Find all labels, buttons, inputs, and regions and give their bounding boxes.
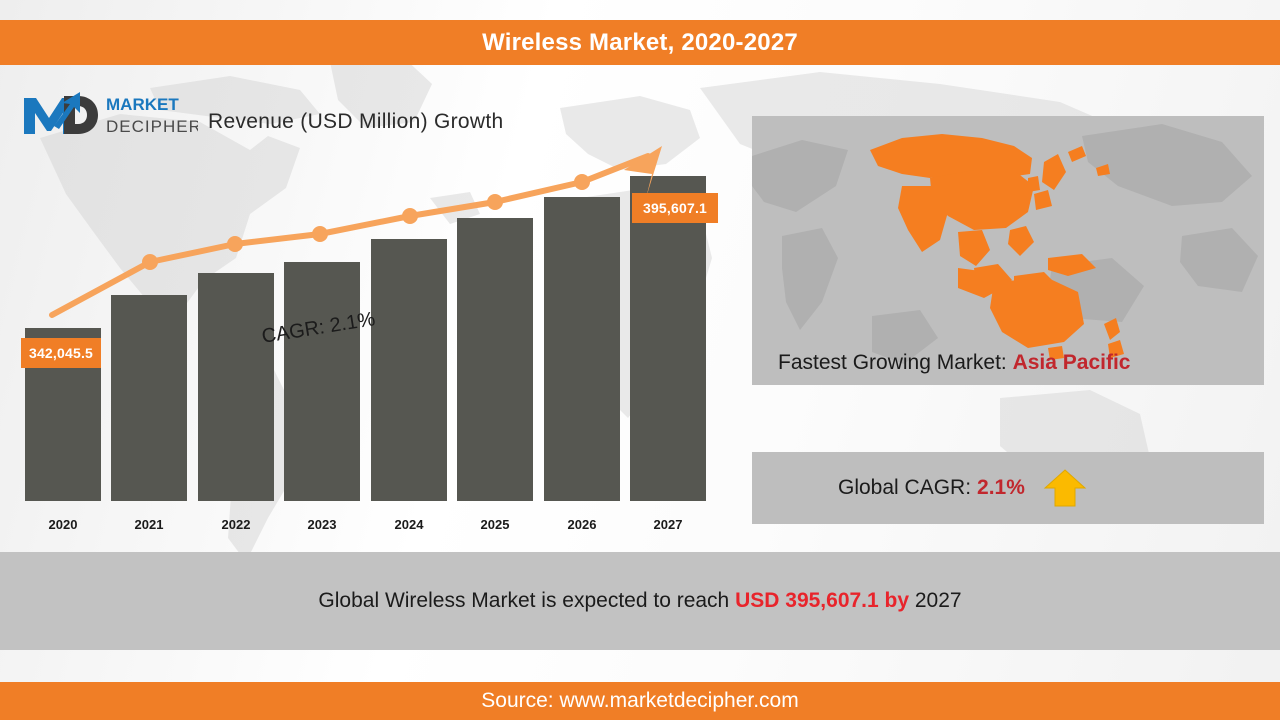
source-text: Source: www.marketdecipher.com — [481, 689, 798, 713]
x-label-2024: 2024 — [366, 517, 452, 532]
x-label-2027: 2027 — [625, 517, 711, 532]
x-label-2023: 2023 — [279, 517, 365, 532]
x-label-2022: 2022 — [193, 517, 279, 532]
global-cagr-panel: Global CAGR: 2.1% — [752, 452, 1264, 524]
logo-line-2: DECIPHER — [106, 117, 198, 136]
chart-heading: Revenue (USD Million) Growth — [208, 110, 504, 134]
map-caption-prefix: Fastest Growing Market: — [778, 351, 1007, 374]
cagr-trend-line — [0, 140, 740, 540]
bar-chart: CAGR: 2.1% 342,045.5 395,607.1 2020 2021… — [0, 140, 740, 540]
infographic-root: Wireless Market, 2020-2027 MARKET DECIPH… — [0, 0, 1280, 720]
global-cagr-value: 2.1% — [977, 476, 1025, 500]
x-label-2021: 2021 — [106, 517, 192, 532]
summary-highlight: USD 395,607.1 by — [735, 589, 909, 612]
page-title: Wireless Market, 2020-2027 — [482, 29, 798, 57]
x-label-2026: 2026 — [539, 517, 625, 532]
x-label-2025: 2025 — [452, 517, 538, 532]
summary-part-1: Global Wireless Market is expected to re… — [318, 589, 729, 612]
fastest-growing-market-panel: Fastest Growing Market: Asia Pacific — [752, 116, 1264, 385]
summary-banner: Global Wireless Market is expected to re… — [0, 552, 1280, 650]
logo-line-1: MARKET — [106, 95, 179, 114]
footer-bar: Source: www.marketdecipher.com — [0, 682, 1280, 720]
summary-part-2: 2027 — [915, 589, 962, 612]
brand-logo: MARKET DECIPHER — [18, 82, 198, 144]
map-caption: Fastest Growing Market: Asia Pacific — [778, 351, 1130, 375]
title-bar: Wireless Market, 2020-2027 — [0, 20, 1280, 65]
global-cagr-label: Global CAGR: — [838, 476, 971, 500]
value-label-2027: 395,607.1 — [632, 193, 718, 223]
x-label-2020: 2020 — [20, 517, 106, 532]
summary-text: Global Wireless Market is expected to re… — [318, 589, 961, 613]
value-label-2020: 342,045.5 — [21, 338, 101, 368]
map-region-name: Asia Pacific — [1013, 351, 1131, 374]
region-map — [752, 116, 1264, 385]
arrow-up-icon — [1043, 468, 1087, 508]
